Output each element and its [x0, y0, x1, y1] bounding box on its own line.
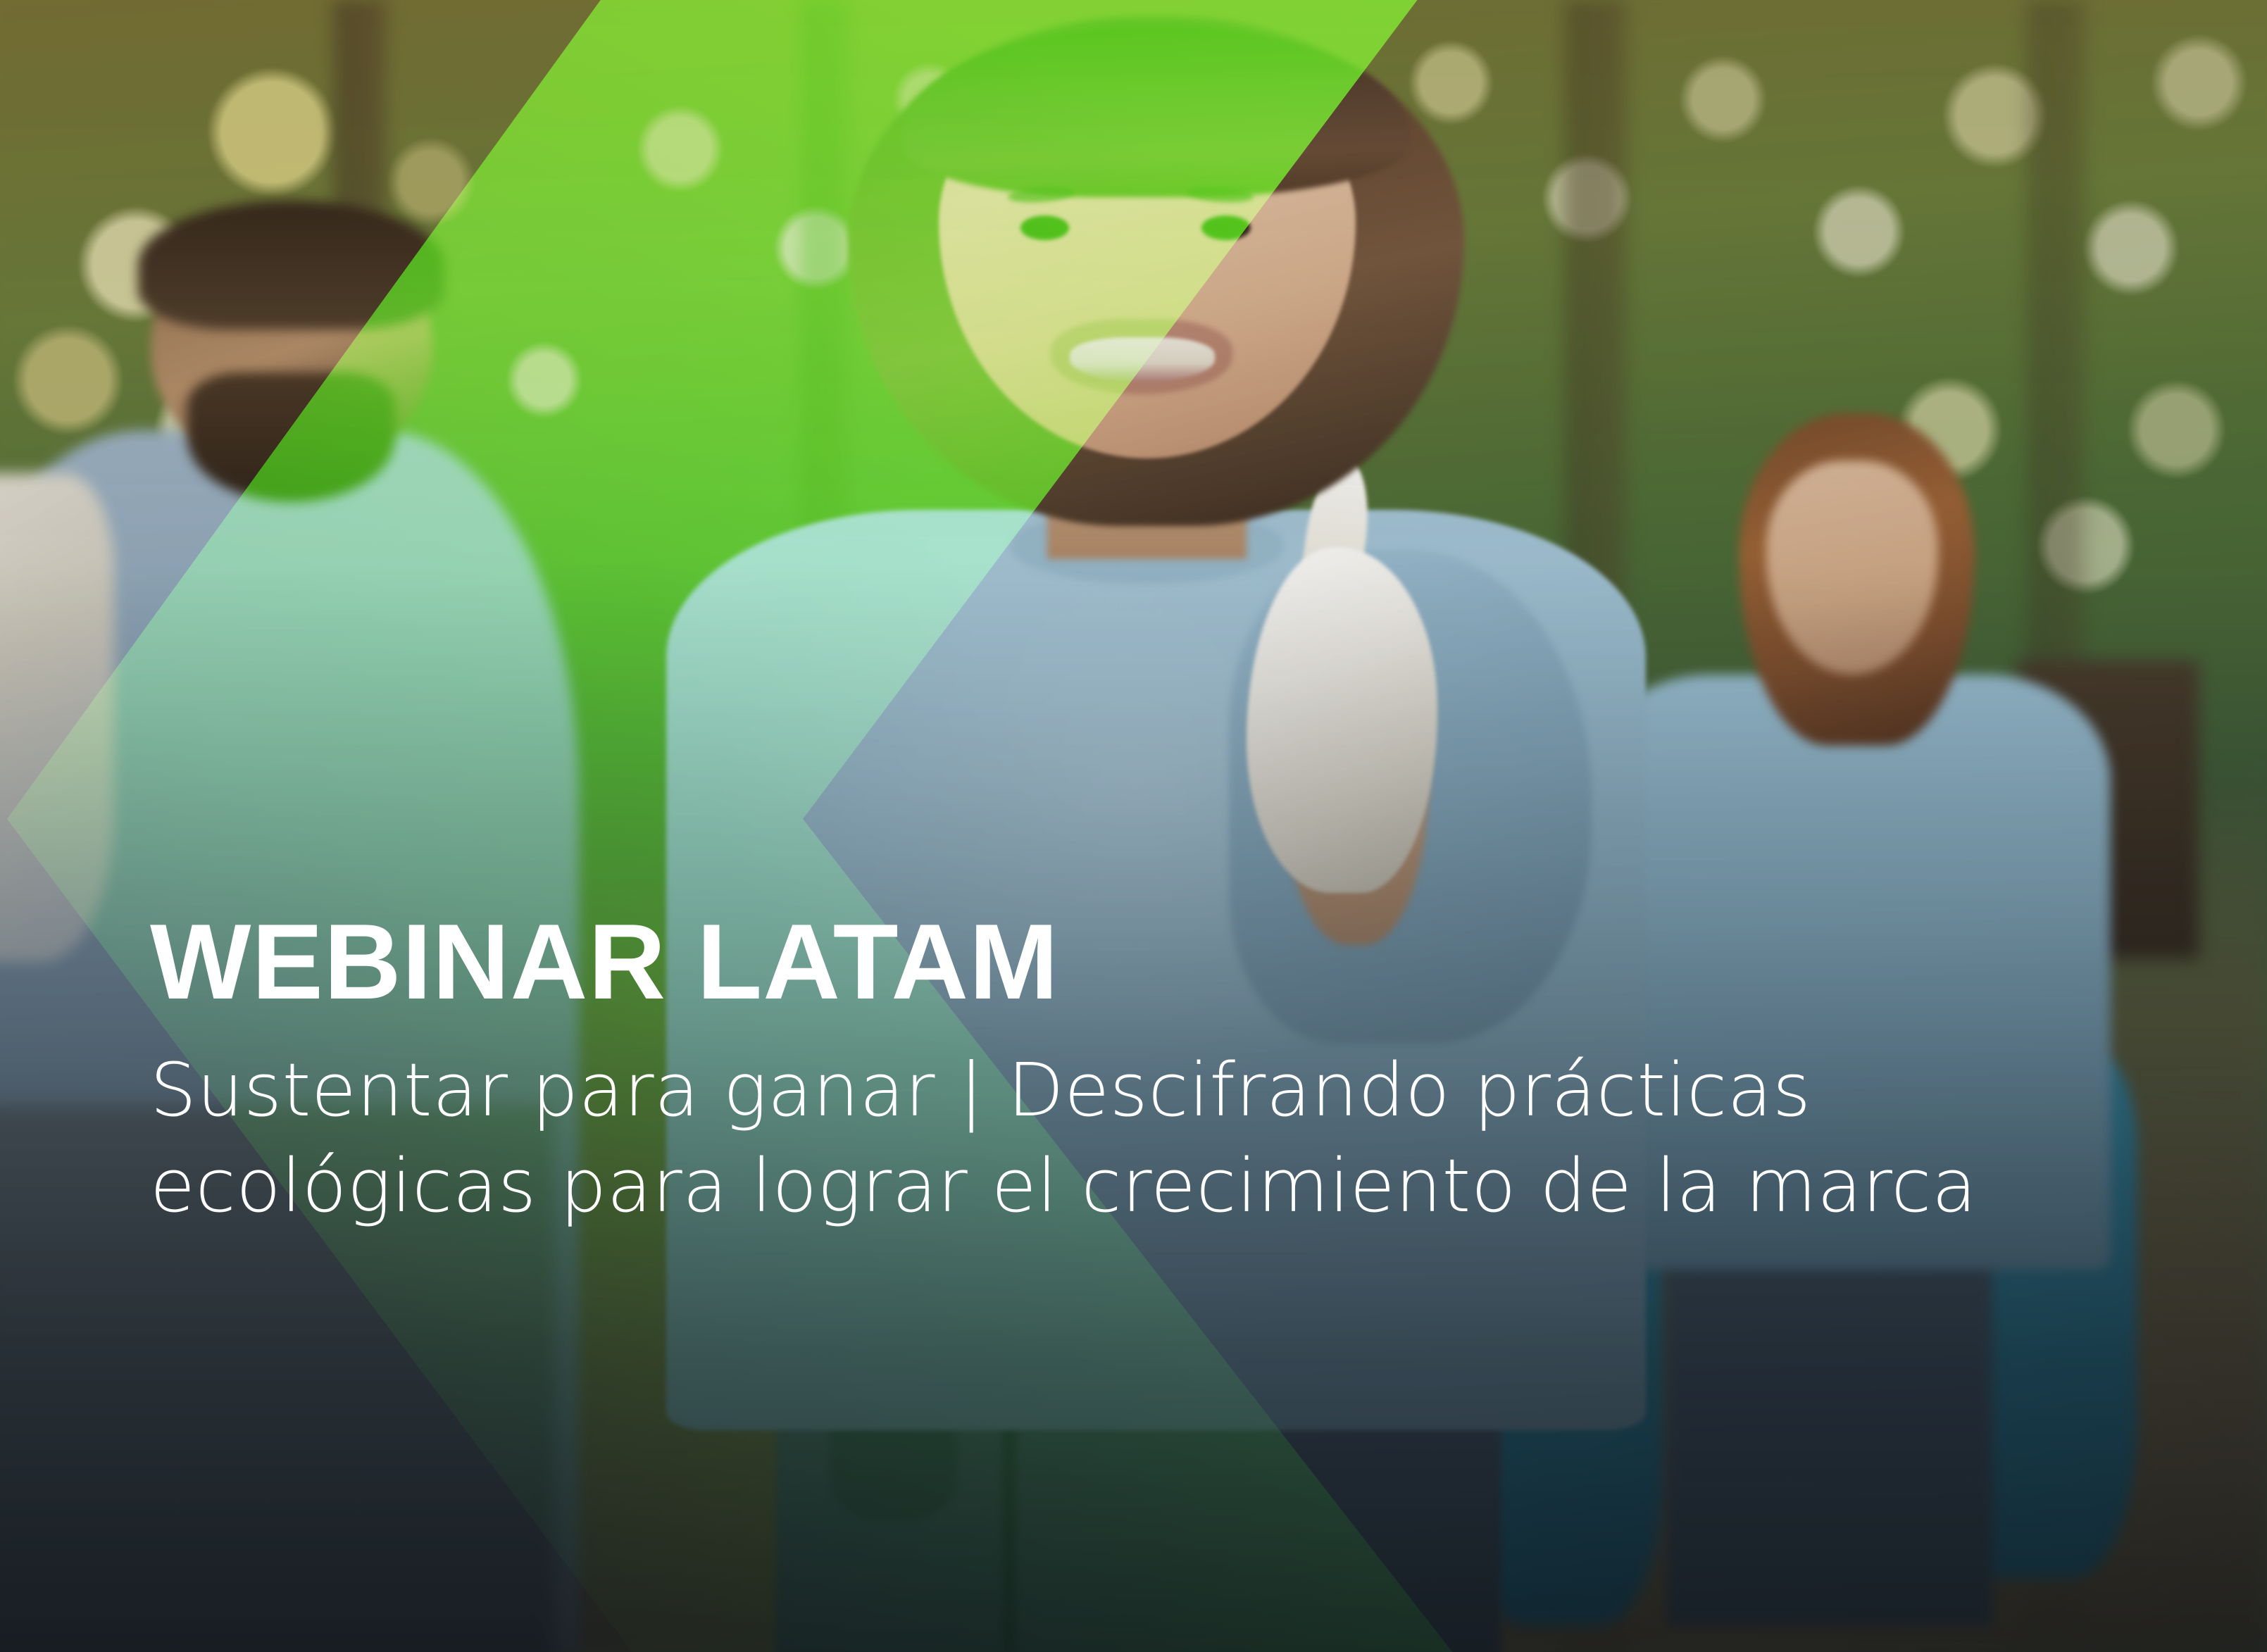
center-woman-eye-left — [1020, 215, 1070, 240]
center-woman-white-glove — [1247, 547, 1437, 892]
center-woman-eye-right — [1201, 215, 1251, 240]
webinar-banner: WEBINAR LATAM Sustentar para ganar | Des… — [0, 0, 2267, 1652]
background-photo — [0, 0, 2267, 1652]
left-volunteer-beard — [187, 373, 396, 502]
center-woman-smile — [1070, 337, 1215, 382]
left-volunteer-arm — [0, 473, 114, 962]
left-volunteer-hair — [138, 201, 444, 330]
center-woman — [703, 8, 1610, 1652]
text-block: WEBINAR LATAM Sustentar para ganar | Des… — [150, 908, 2171, 1234]
center-woman-jeans-pocket — [830, 1422, 956, 1520]
page-title: WEBINAR LATAM — [150, 908, 2171, 1015]
center-woman-jeans-seam — [1002, 1406, 1017, 1652]
page-subtitle: Sustentar para ganar | Descifrando práct… — [150, 1042, 2115, 1234]
center-woman-bangs — [902, 25, 1410, 197]
